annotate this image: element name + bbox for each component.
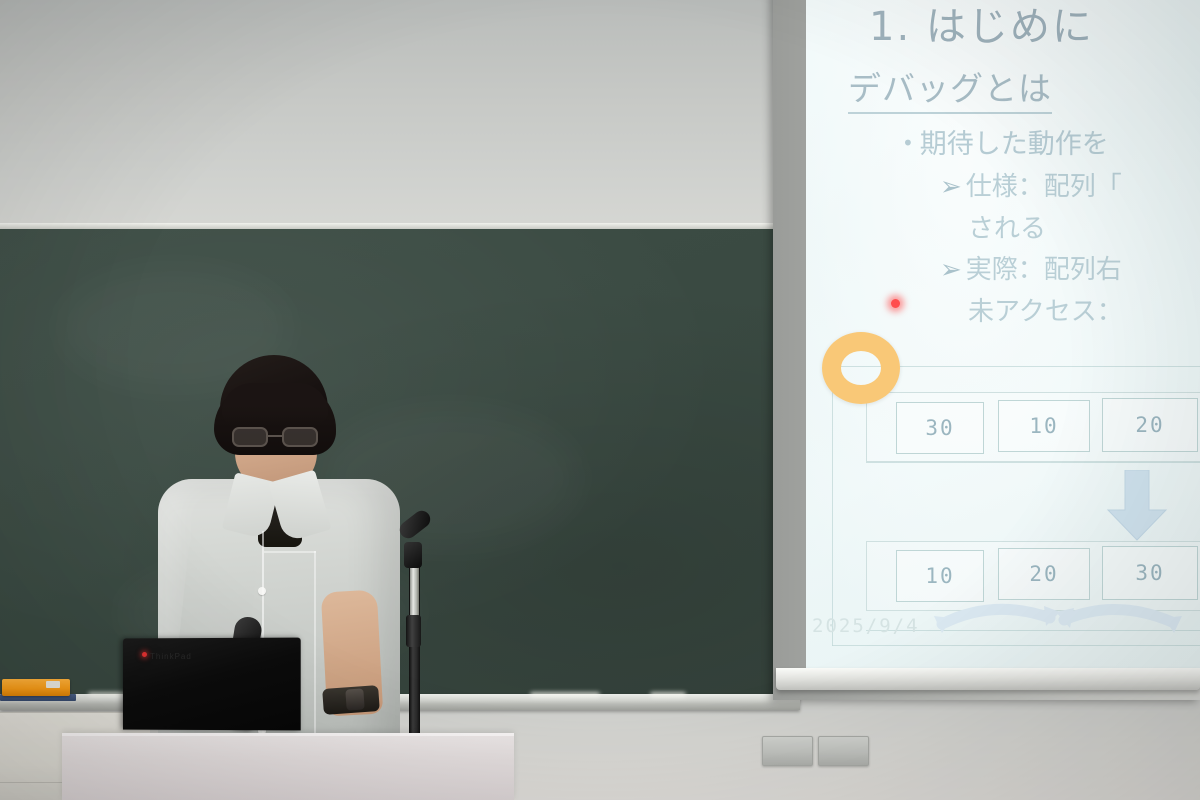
laptop-brand-mark: ThinkPad bbox=[150, 652, 192, 661]
array-cell-after-1: 20 bbox=[998, 548, 1090, 600]
slide-title: 1. はじめに bbox=[869, 0, 1094, 52]
array-cell-after-0: 10 bbox=[896, 550, 984, 602]
lectern-top-edge bbox=[62, 733, 514, 736]
slide-bullet-2-continued: される bbox=[968, 208, 1046, 245]
swap-arrow-icon-left bbox=[932, 602, 1062, 642]
mic-stand-clip[interactable] bbox=[404, 542, 422, 568]
orange-ring-decoration bbox=[822, 332, 900, 404]
eyeglasses-icon bbox=[232, 427, 322, 447]
arrow-marker-icon-2: ➢ bbox=[940, 255, 962, 285]
orange-board-eraser bbox=[2, 679, 70, 696]
down-arrow-icon bbox=[1106, 470, 1168, 542]
projection-screen-bottom-bar[interactable] bbox=[776, 668, 1200, 690]
mic-stand-clutch[interactable] bbox=[406, 615, 421, 647]
slide-date: 2025/9/4 bbox=[812, 615, 920, 637]
wall-outlet-panel-1[interactable] bbox=[762, 736, 813, 766]
swap-arrow-icon-right bbox=[1054, 602, 1184, 642]
presenter-fringe bbox=[222, 383, 328, 423]
array-cell-before-1: 10 bbox=[998, 400, 1090, 452]
arrow-marker-icon: ➢ bbox=[940, 172, 962, 202]
wall-outlet-panel-2[interactable] bbox=[818, 736, 869, 766]
slide-subtitle: デバッグとは bbox=[848, 62, 1052, 114]
slide-bullet-2: ➢仕様：配列「 bbox=[940, 166, 1122, 203]
array-cell-before-2: 20 bbox=[1102, 398, 1198, 452]
slide-bullet-2-text: 仕様：配列「 bbox=[966, 172, 1122, 202]
projection-screen-surface[interactable]: 1. はじめに デバッグとは •期待した動作を ➢仕様：配列「 される ➢実際：… bbox=[806, 0, 1200, 668]
slide-bullet-3: ➢実際：配列右 bbox=[940, 249, 1122, 286]
array-cell-before-0: 30 bbox=[896, 402, 984, 454]
slide-bullet-3-text: 実際：配列右 bbox=[966, 255, 1122, 285]
mic-stand-chrome-section bbox=[410, 562, 419, 622]
lectern-podium bbox=[62, 733, 514, 800]
slide-bullet-3-continued: 未アクセス： bbox=[968, 291, 1123, 328]
laptop-logo-dot-icon bbox=[142, 652, 147, 657]
bullet-dot-icon: • bbox=[902, 131, 914, 155]
lecture-scene: 1. はじめに デバッグとは •期待した動作を ➢仕様：配列「 される ➢実際：… bbox=[0, 0, 1200, 800]
laser-pointer-dot bbox=[891, 299, 900, 308]
slide-bullet-1: •期待した動作を bbox=[902, 122, 1109, 161]
wristwatch-face bbox=[345, 688, 364, 710]
array-cell-after-2: 30 bbox=[1102, 546, 1198, 600]
slide-bullet-1-text: 期待した動作を bbox=[920, 129, 1109, 160]
